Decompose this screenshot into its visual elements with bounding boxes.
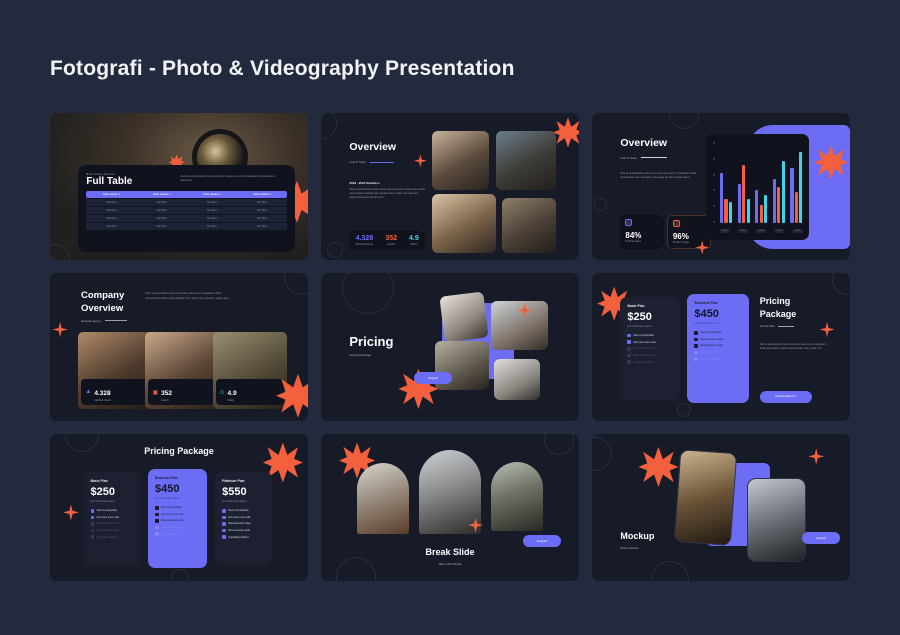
- photo-espresso-machine: [419, 450, 481, 534]
- sparkle-icon: [53, 322, 68, 337]
- table-cell: Text Here: [187, 223, 237, 230]
- kpi-label: Product Usage: [673, 241, 705, 244]
- bar-group: [790, 142, 802, 223]
- table-cell: Text Here: [237, 207, 287, 214]
- photo-desk-camera: [432, 194, 497, 253]
- chart-x-axis-labels: 20182019202020212022: [720, 229, 803, 233]
- slide-body: Sed ut perspiciatis unde omnis iste natu…: [760, 343, 832, 351]
- plan-card-business[interactable]: Business Plan $450 per month lorem ipsum…: [148, 469, 207, 568]
- table-cell: Text Here: [137, 199, 187, 206]
- chart-bar: [760, 205, 763, 223]
- table-header-cell: Table Header 4: [237, 191, 287, 198]
- plan-features: Sed ut perspiciatis Duis aute irure null…: [91, 509, 134, 539]
- table-cell: Text Here: [187, 199, 237, 206]
- fotografi-button[interactable]: fotografi: [414, 372, 452, 384]
- dotted-arc-decoration: [65, 434, 99, 452]
- plan-feature: Duis aute irure nulla: [222, 516, 265, 520]
- stat-label: Satisfied Clients: [94, 400, 110, 402]
- table-header-cell: Table Header 1: [86, 191, 136, 198]
- slide-title-line2: Package: [760, 310, 797, 319]
- slide-title: Break Slide: [425, 548, 474, 557]
- slide-body: Sed ut perspiciatis unde omnis iste natu…: [349, 188, 426, 201]
- table-header-cell: Table Header 3: [187, 191, 237, 198]
- dotted-arc-decoration: [592, 437, 612, 471]
- photo-tablet-laptop: [747, 478, 806, 562]
- table-cell: Text Here: [86, 215, 136, 222]
- plan-period: per month lorem ipsum: [155, 497, 200, 500]
- table-cell: Text Here: [86, 207, 136, 214]
- plan-name: Business Plan: [694, 301, 742, 305]
- slide-subtitle: Last 5 Years: [349, 160, 366, 164]
- fotografi-button[interactable]: fotografi: [802, 532, 840, 544]
- dotted-circle-decoration: [544, 434, 574, 455]
- table-cell: Text Here: [187, 215, 237, 222]
- dotted-circle-decoration: [832, 273, 850, 295]
- plan-feature: Sint occaecat cupid: [627, 354, 672, 358]
- full-table-card: Best Video Service Full Table Sed ut per…: [78, 165, 295, 252]
- stat-label: Satisfied Clients: [355, 243, 373, 246]
- slide-title-line1: Pricing: [760, 297, 791, 306]
- plan-feature: Sed ut perspiciatis: [694, 331, 742, 335]
- table-cell: Text Here: [237, 223, 287, 230]
- plan-feature: Sint occaecat cupid: [222, 529, 265, 533]
- dotted-circle-decoration: [651, 561, 689, 581]
- slide-company-overview[interactable]: Company Overview fotografi agency Sed ut…: [50, 273, 308, 420]
- plan-feature: Reprehenderit volup: [155, 519, 200, 523]
- table-header-row: Table Header 1 Table Header 2 Table Head…: [86, 191, 287, 198]
- table-cell: Text Here: [237, 215, 287, 222]
- dotted-circle-decoration: [284, 273, 308, 295]
- slide-title: Overview: [349, 142, 396, 153]
- briefcase-icon: ▣: [152, 389, 158, 396]
- stat-badge: ▲ 4.328 Satisfied Clients: [81, 379, 150, 405]
- photo-camera-hands: [432, 131, 489, 190]
- plan-features: Sed ut perspiciatis Duis aute irure null…: [627, 334, 672, 364]
- table-cell: Text Here: [137, 215, 187, 222]
- chart-bar: [790, 168, 793, 223]
- plan-card-basic[interactable]: Basic Plan $250 per month lorem ipsum Se…: [84, 472, 141, 565]
- plan-features: Sed ut perspiciatis Duis aute irure null…: [694, 331, 742, 361]
- stat-badge: ✩ 4.9 Rating: [216, 379, 285, 405]
- plan-feature: Duis aute irure nulla: [155, 513, 200, 517]
- plan-feature: Cupidatat proident: [222, 535, 265, 539]
- slide-break[interactable]: fotografi Break Slide Take A Short Break: [321, 434, 579, 581]
- stats-panel: 4.328 Satisfied Clients 352 Awards 4.9 R…: [349, 231, 424, 250]
- plan-period: per month lorem ipsum: [694, 322, 742, 325]
- slide-overview-stats[interactable]: Overview Last 5 Years 2018 - 2022 Statis…: [321, 113, 579, 260]
- plan-feature: Reprehenderit volup: [694, 344, 742, 348]
- table-header-cell: Table Header 2: [137, 191, 187, 198]
- plan-feature: Cupidatat proident: [91, 535, 134, 539]
- star-burst-icon: [638, 447, 678, 487]
- stat-item: 4.9 Rating: [403, 231, 425, 250]
- star-burst-icon: [553, 117, 579, 147]
- bar-group: [720, 142, 732, 223]
- plan-period: per month lorem ipsum: [627, 325, 672, 328]
- plan-features: Sed ut perspiciatis Duis aute irure null…: [222, 509, 265, 539]
- plan-card-platinum[interactable]: Platinum Plan $550 per month lorem ipsum…: [215, 472, 272, 565]
- photo-barista: [491, 462, 543, 531]
- photo-tripod-rig: [491, 301, 548, 350]
- plan-feature: Sed ut perspiciatis: [91, 509, 134, 513]
- dotted-circle-decoration: [342, 273, 394, 313]
- stat-label: Awards: [161, 400, 172, 402]
- slide-mockup[interactable]: Mockup Device Mockup fotografi: [592, 434, 850, 581]
- plan-feature: Cupidatat proident: [694, 357, 742, 361]
- slide-subtitle: fotografi agency: [81, 319, 101, 323]
- plan-card-basic[interactable]: Basic Plan $250 per month lorem ipsum Se…: [620, 297, 679, 400]
- plan-name: Platinum Plan: [222, 479, 265, 483]
- stat-value: 4.328: [355, 235, 373, 242]
- slide-title: Overview: [620, 138, 667, 149]
- slide-grid: Best Video Service Full Table Sed ut per…: [50, 113, 850, 581]
- chart-bar: [729, 202, 732, 223]
- slide-description: Sed ut perspiciatis unde omnis iste natu…: [180, 174, 284, 183]
- chart-x-tick: 2020: [756, 229, 766, 233]
- kpi-value: 96%: [673, 232, 705, 241]
- slide-subtitle: Service Plan: [760, 325, 775, 328]
- slide-pricing-package[interactable]: Pricing Package Basic Plan $250 per mont…: [50, 434, 308, 581]
- plan-feature: Reprehenderit volup: [627, 347, 672, 351]
- stat-label: Awards: [385, 243, 397, 246]
- table-cell: Text Here: [86, 199, 136, 206]
- chart-x-tick: 2021: [774, 229, 784, 233]
- slide-subtitle: Last 5 Years: [620, 156, 637, 160]
- stat-badge: ▣ 352 Awards: [148, 379, 217, 405]
- chart-bar: [724, 199, 727, 223]
- plan-feature: Cupidatat proident: [155, 532, 200, 536]
- sparkle-icon: [414, 154, 427, 167]
- dotted-circle-decoration: [321, 113, 337, 139]
- table-row: Text Here Text Here Text Here Text Here: [86, 215, 287, 222]
- stat-item: 4.328 Satisfied Clients: [349, 231, 379, 250]
- slide-body: Sed ut perspiciatis unde omnis iste natu…: [145, 292, 230, 300]
- kpi-product-usage: 96% Product Usage: [667, 215, 711, 249]
- plan-card-business[interactable]: Business Plan $450 per month lorem ipsum…: [687, 294, 749, 403]
- stat-value: 4.9: [228, 390, 237, 397]
- plan-feature: Duis aute irure nulla: [91, 516, 134, 520]
- slide-subtitle: Pricing Package: [349, 353, 371, 357]
- slide-title: Pricing: [349, 335, 393, 349]
- plan-feature: Sed ut perspiciatis: [222, 509, 265, 513]
- plan-feature: Cupidatat proident: [627, 360, 672, 364]
- sparkle-icon: [808, 448, 824, 464]
- photo-tablet-desk: [674, 449, 737, 546]
- dotted-circle-decoration: [677, 403, 691, 417]
- plan-price: $550: [222, 487, 265, 498]
- chart-bar: [755, 190, 758, 222]
- plan-feature: Reprehenderit volup: [91, 522, 134, 526]
- kpi-product-sales: 84% Product Sales: [620, 215, 664, 249]
- slide-title: Pricing Package: [144, 447, 214, 456]
- table-cell: Text Here: [137, 223, 187, 230]
- chart-y-axis-ticks: [713, 142, 715, 223]
- chart-bar: [773, 179, 776, 223]
- slide-body: Sed ut perspiciatis unde omnis iste natu…: [620, 172, 697, 180]
- data-table: Table Header 1 Table Header 2 Table Head…: [86, 191, 287, 247]
- overview-card: ▣ 352 Awards: [145, 332, 220, 409]
- divider-rule: [778, 326, 794, 327]
- plan-name: Business Plan: [155, 476, 200, 480]
- dotted-circle-decoration: [171, 569, 189, 581]
- triangle-icon: ▲: [85, 389, 91, 395]
- slide-subtitle: Device Mockup: [620, 547, 638, 550]
- plan-price: $450: [694, 309, 742, 320]
- slide-overview-chart[interactable]: Overview Last 5 Years Sed ut perspiciati…: [592, 113, 850, 260]
- dotted-circle-decoration: [327, 242, 343, 258]
- plan-period: per month lorem ipsum: [222, 500, 265, 503]
- bar-chart: [720, 142, 803, 223]
- kpi-label: Product Sales: [625, 240, 659, 243]
- chart-x-tick: 2019: [738, 229, 748, 233]
- slide-title: Mockup: [620, 532, 654, 541]
- stat-value: 4.328: [94, 390, 110, 397]
- plan-features: Sed ut perspiciatis Duis aute irure null…: [155, 506, 200, 536]
- table-cell: Text Here: [86, 223, 136, 230]
- photo-phone-hand: [502, 198, 556, 253]
- star-icon: ✩: [220, 389, 225, 396]
- table-cell: Text Here: [237, 199, 287, 206]
- plan-feature: Sint occaecat cupid: [155, 526, 200, 530]
- chart-x-tick: 2022: [793, 229, 803, 233]
- dotted-arc-decoration: [336, 557, 376, 581]
- stat-label: Rating: [228, 400, 237, 402]
- plan-feature: Duis aute irure nulla: [627, 340, 672, 344]
- plan-name: Basic Plan: [91, 479, 134, 483]
- divider-rule: [641, 157, 667, 158]
- plan-feature: Reprehenderit volup: [222, 522, 265, 526]
- bar-group: [755, 142, 767, 223]
- divider-rule: [370, 162, 394, 163]
- overview-card: ▲ 4.328 Satisfied Clients: [78, 332, 153, 409]
- sparkle-icon: [63, 504, 79, 520]
- bar-group: [773, 142, 785, 223]
- chart-device-screen: 20182019202020212022: [706, 134, 809, 240]
- photo-camera-bag: [494, 359, 540, 400]
- website-button[interactable]: www.fotografi.com: [760, 391, 812, 403]
- dotted-arc-decoration: [669, 113, 699, 129]
- users-icon: [673, 220, 680, 227]
- table-cell: Text Here: [137, 207, 187, 214]
- chart-bar: [738, 184, 741, 223]
- fotografi-button[interactable]: fotografi: [523, 535, 561, 547]
- chart-bar: [799, 152, 802, 223]
- stat-value: 4.9: [409, 235, 419, 242]
- plan-price: $250: [627, 312, 672, 323]
- page-title: Fotografi - Photo & Videography Presenta…: [50, 57, 515, 81]
- chart-bar: [764, 195, 767, 222]
- slide-pricing-two[interactable]: Basic Plan $250 per month lorem ipsum Se…: [592, 273, 850, 420]
- chart-x-tick: 2018: [720, 229, 730, 233]
- stat-value: 352: [385, 235, 397, 242]
- plan-feature: Duis aute irure nulla: [694, 338, 742, 342]
- table-cell: Text Here: [187, 207, 237, 214]
- overview-card: ✩ 4.9 Rating: [213, 332, 288, 409]
- plan-name: Basic Plan: [627, 304, 672, 308]
- plan-feature: Sint occaecat cupid: [91, 529, 134, 533]
- stat-value: 352: [161, 390, 172, 397]
- section-label: 2018 - 2022 Statistics: [349, 181, 426, 185]
- plan-feature: Sed ut perspiciatis: [627, 334, 672, 338]
- slide-title-line1: Company: [81, 291, 124, 301]
- chart-icon: [625, 219, 632, 226]
- sparkle-icon: [820, 322, 835, 337]
- dotted-circle-decoration: [594, 198, 607, 211]
- stat-label: Rating: [409, 243, 419, 246]
- chart-bar: [795, 192, 798, 223]
- plan-feature: Sed ut perspiciatis: [155, 506, 200, 510]
- kpi-value: 84%: [625, 231, 659, 240]
- bar-group: [738, 142, 750, 223]
- table-row: Text Here Text Here Text Here Text Here: [86, 223, 287, 230]
- plan-period: per month lorem ipsum: [91, 500, 134, 503]
- chart-bar: [720, 173, 723, 223]
- star-burst-icon: [814, 145, 848, 179]
- chart-bar: [742, 165, 745, 223]
- table-row: Text Here Text Here Text Here Text Here: [86, 199, 287, 206]
- photo-vintage-camera: [440, 291, 489, 342]
- slide-pricing-cover[interactable]: Pricing Pricing Package fotografi: [321, 273, 579, 420]
- photo-photographer: [496, 131, 555, 190]
- plan-price: $450: [155, 484, 200, 495]
- photo-pouring-cup: [357, 463, 409, 534]
- chart-bar: [777, 187, 780, 222]
- slide-title-line2: Overview: [81, 304, 123, 314]
- table-row: Text Here Text Here Text Here Text Here: [86, 207, 287, 214]
- plan-feature: Sint occaecat cupid: [694, 351, 742, 355]
- slide-subtitle: Take A Short Break: [439, 563, 462, 566]
- chart-bar: [782, 161, 785, 222]
- divider-rule: [105, 320, 127, 321]
- plan-price: $250: [91, 487, 134, 498]
- stat-item: 352 Awards: [379, 231, 403, 250]
- slide-full-table[interactable]: Best Video Service Full Table Sed ut per…: [50, 113, 308, 260]
- chart-bar: [747, 199, 750, 223]
